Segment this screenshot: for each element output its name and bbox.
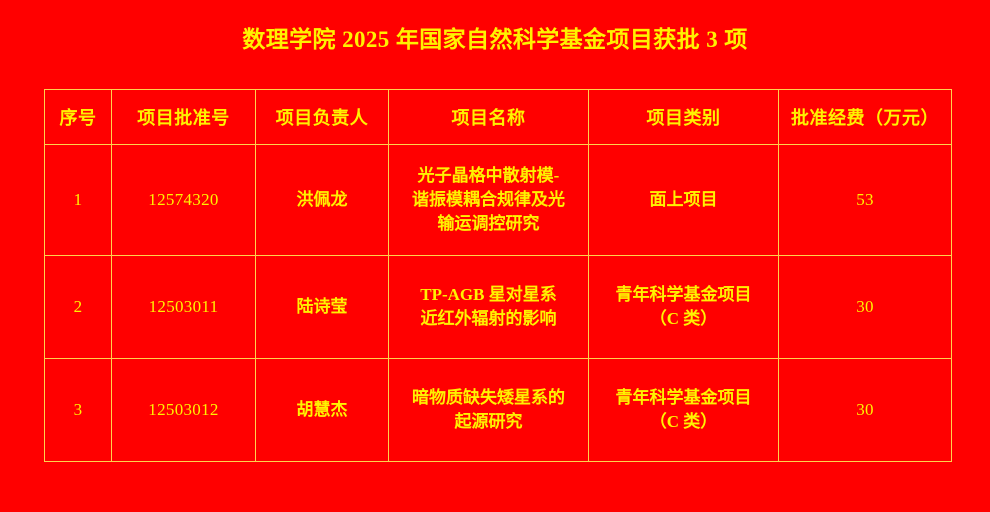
cell-project-name: 暗物质缺失矮星系的 起源研究 — [389, 359, 589, 462]
table-header: 序号 项目批准号 项目负责人 项目名称 项目类别 批准经费（万元） — [45, 90, 952, 145]
cell-pi: 胡慧杰 — [256, 359, 389, 462]
project-type-line: （C 类） — [593, 410, 774, 434]
table-row: 3 12503012 胡慧杰 暗物质缺失矮星系的 起源研究 青年科学基金项目 （… — [45, 359, 952, 462]
cell-funding: 30 — [779, 359, 952, 462]
cell-no: 2 — [45, 256, 112, 359]
project-type-line: 青年科学基金项目 — [593, 283, 774, 307]
table-body: 1 12574320 洪佩龙 光子晶格中散射模- 谐振模耦合规律及光 输运调控研… — [45, 145, 952, 462]
cell-pi: 洪佩龙 — [256, 145, 389, 256]
project-name-line: 光子晶格中散射模- — [393, 164, 584, 188]
cell-project-type: 面上项目 — [589, 145, 779, 256]
column-header-pi: 项目负责人 — [256, 90, 389, 145]
cell-code: 12503012 — [112, 359, 256, 462]
cell-no: 3 — [45, 359, 112, 462]
cell-pi: 陆诗莹 — [256, 256, 389, 359]
cell-code: 12574320 — [112, 145, 256, 256]
project-name-line: TP-AGB 星对星系 — [393, 283, 584, 307]
column-header-code: 项目批准号 — [112, 90, 256, 145]
cell-project-name: TP-AGB 星对星系 近红外辐射的影响 — [389, 256, 589, 359]
grant-table-container: 序号 项目批准号 项目负责人 项目名称 项目类别 批准经费（万元） 1 1257… — [44, 89, 951, 462]
page-title: 数理学院 2025 年国家自然科学基金项目获批 3 项 — [0, 26, 990, 54]
column-header-funding: 批准经费（万元） — [779, 90, 952, 145]
table-header-row: 序号 项目批准号 项目负责人 项目名称 项目类别 批准经费（万元） — [45, 90, 952, 145]
cell-funding: 30 — [779, 256, 952, 359]
table-row: 2 12503011 陆诗莹 TP-AGB 星对星系 近红外辐射的影响 青年科学… — [45, 256, 952, 359]
project-type-line: 面上项目 — [593, 188, 774, 212]
cell-project-type: 青年科学基金项目 （C 类） — [589, 359, 779, 462]
cell-no: 1 — [45, 145, 112, 256]
cell-funding: 53 — [779, 145, 952, 256]
column-header-type: 项目类别 — [589, 90, 779, 145]
project-type-line: 青年科学基金项目 — [593, 386, 774, 410]
cell-project-name: 光子晶格中散射模- 谐振模耦合规律及光 输运调控研究 — [389, 145, 589, 256]
cell-project-type: 青年科学基金项目 （C 类） — [589, 256, 779, 359]
project-name-line: 近红外辐射的影响 — [393, 307, 584, 331]
project-name-line: 暗物质缺失矮星系的 — [393, 386, 584, 410]
column-header-no: 序号 — [45, 90, 112, 145]
project-name-line: 起源研究 — [393, 410, 584, 434]
project-type-line: （C 类） — [593, 307, 774, 331]
table-row: 1 12574320 洪佩龙 光子晶格中散射模- 谐振模耦合规律及光 输运调控研… — [45, 145, 952, 256]
cell-code: 12503011 — [112, 256, 256, 359]
grant-table: 序号 项目批准号 项目负责人 项目名称 项目类别 批准经费（万元） 1 1257… — [44, 89, 952, 462]
project-name-line: 输运调控研究 — [393, 212, 584, 236]
page-root: 数理学院 2025 年国家自然科学基金项目获批 3 项 序号 项目批准号 项目负… — [0, 0, 990, 512]
project-name-line: 谐振模耦合规律及光 — [393, 188, 584, 212]
column-header-name: 项目名称 — [389, 90, 589, 145]
